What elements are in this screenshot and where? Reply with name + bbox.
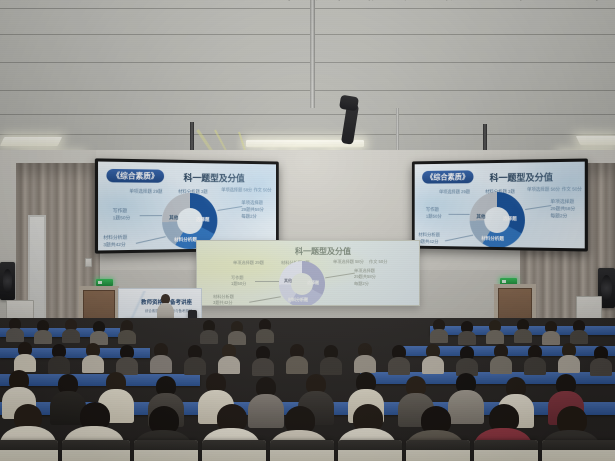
- slide-top-right-label-2-center: 作文 50分: [369, 259, 387, 265]
- student-body: [218, 356, 240, 374]
- student: [34, 320, 52, 342]
- callout-writing-center-line-2: 1题50分: [231, 281, 246, 287]
- callout-choice-right: 单项选择题 29题共58分 每题2分: [550, 199, 575, 220]
- callout-choice-right-line-1: 单项选择题: [550, 199, 575, 206]
- seat-headrest: [134, 440, 198, 450]
- callout-choice-center: 单项选择题 29题共58分 每题2分: [354, 268, 376, 287]
- seat-back: [338, 440, 402, 461]
- seat-headrest: [338, 440, 402, 450]
- segment-label-choice-right: 选择题: [503, 216, 517, 222]
- student-body: [6, 328, 24, 342]
- slide-title-center: 科一题型及分值: [263, 246, 383, 257]
- student: [430, 319, 448, 341]
- student-body: [558, 355, 580, 373]
- leader-line-choice: [217, 206, 242, 211]
- seat-back: [542, 440, 615, 461]
- left-tv-slide: 《综合素质》 科一题型及分值 单项选择题 29题 材料分析题 3题 单项选择题 …: [98, 162, 276, 251]
- student-body: [490, 356, 512, 374]
- slide-top-label-1-right: 单项选择题 29题: [439, 189, 470, 196]
- student: [14, 342, 36, 370]
- segment-label-other-center: 其他: [284, 278, 292, 284]
- student-body: [62, 329, 80, 343]
- student-body: [256, 329, 274, 343]
- callout-writing-center: 写作题 1题50分: [231, 275, 246, 288]
- slide-top-label-1: 单项选择题 29题: [129, 189, 162, 196]
- student-body: [228, 331, 246, 345]
- callout-choice-center-line-3: 每题2分: [354, 281, 376, 287]
- segment-label-other-right: 其他: [476, 214, 485, 220]
- slide-top-right-label-2-right: 作文 50分: [562, 186, 582, 193]
- center-projection-screen: 科一题型及分值 单项选择题 29题 材料分析题 3题 单项选择题 58分 作文 …: [196, 240, 420, 306]
- callout-choice: 单项选择题 29题共58分 每题2分: [241, 200, 264, 220]
- callout-choice-center-line-2: 29题共58分: [354, 274, 376, 280]
- leader-line-choice-right: [525, 205, 551, 210]
- student: [590, 346, 612, 374]
- seat-back: [62, 440, 130, 461]
- seat-headrest: [202, 440, 266, 450]
- lecture-hall-photo: 《综合素质》 科一题型及分值 单项选择题 29题 材料分析题 3题 单项选择题 …: [0, 0, 615, 461]
- segment-label-material-center: 材料分析题: [288, 297, 308, 303]
- student: [184, 345, 206, 373]
- callout-choice-line-3: 每题2分: [241, 214, 264, 221]
- student-body: [48, 356, 70, 374]
- leader-line-writing-right: [449, 214, 470, 215]
- seat-back: [202, 440, 266, 461]
- seat-back: [406, 440, 470, 461]
- student: [486, 320, 504, 342]
- student: [118, 320, 136, 342]
- student: [218, 344, 240, 372]
- student: [542, 321, 560, 343]
- seat-back: [134, 440, 198, 461]
- student: [200, 320, 218, 342]
- student: [514, 319, 532, 341]
- student: [256, 319, 274, 341]
- projector-mount-pole: [310, 0, 315, 108]
- student-body: [570, 330, 588, 344]
- slide-top-right-label-1-center: 单项选择题 58分: [333, 259, 364, 265]
- student-body: [286, 356, 308, 374]
- student-body: [118, 330, 136, 344]
- slide-top-right-label-2: 作文 50分: [254, 187, 272, 194]
- callout-material-center: 材料分析题 3题共42分: [213, 294, 234, 305]
- callout-material-right: 材料分析题 3题共42分: [418, 232, 440, 246]
- slide-top-label-1-center: 单项选择题 29题: [233, 260, 264, 266]
- student-body: [388, 357, 410, 375]
- student: [320, 345, 342, 373]
- wall-plate-left: [85, 258, 92, 267]
- student-body: [200, 330, 218, 344]
- student: [286, 344, 308, 372]
- segment-label-material-right: 材料分析题: [481, 236, 504, 242]
- student-body: [320, 357, 342, 375]
- exit-sign-left: [96, 279, 113, 286]
- seat-back: [474, 440, 538, 461]
- student-body: [422, 356, 444, 374]
- segment-label-choice-center: 选择题: [307, 280, 319, 286]
- right-tv-slide: 《综合素质》 科一题型及分值 单项选择题 29题 材料分析题 3题 单项选择题 …: [415, 162, 585, 249]
- callout-writing-line-1: 写作题: [113, 208, 131, 215]
- student: [252, 346, 274, 374]
- leader-line-writing-center: [255, 281, 279, 282]
- student: [90, 321, 108, 343]
- student-body: [524, 357, 546, 375]
- segment-label-writing: 其他: [169, 215, 178, 221]
- student: [116, 345, 138, 373]
- wall-speaker-left: [0, 262, 15, 300]
- callout-writing-right: 写作题 1题50分: [426, 207, 442, 221]
- donut-hole: [177, 208, 203, 234]
- seat-back: [0, 440, 58, 461]
- segment-label-material: 材料分析题: [174, 237, 197, 243]
- student-body: [150, 355, 172, 373]
- seat-headrest: [62, 440, 130, 450]
- audience-area: [0, 318, 615, 461]
- student: [490, 344, 512, 372]
- donut-chart-center: 选择题 材料分析题 其他: [279, 261, 325, 305]
- student: [558, 343, 580, 371]
- seat-back: [270, 440, 334, 461]
- slide-top-right-label-1: 单项选择题 58分: [221, 187, 252, 194]
- student: [82, 343, 104, 371]
- student: [524, 345, 546, 373]
- ceiling-camera-head: [339, 95, 359, 112]
- student: [228, 321, 246, 343]
- ceiling-light-far-left: [0, 137, 62, 146]
- callout-writing-right-line-2: 1题50分: [426, 214, 442, 221]
- student-body: [354, 355, 376, 373]
- callout-choice-line-1: 单项选择题: [241, 200, 264, 207]
- seat-headrest: [270, 440, 334, 450]
- seat-headrest: [406, 440, 470, 450]
- student: [570, 320, 588, 342]
- student: [6, 318, 24, 340]
- student: [458, 321, 476, 343]
- student-body: [458, 331, 476, 345]
- student-body: [252, 358, 274, 376]
- callout-material-right-line-2: 3题共42分: [418, 239, 440, 246]
- slide-badge-right: 《综合素质》: [422, 170, 473, 183]
- callout-choice-right-line-2: 29题共58分: [550, 206, 575, 213]
- slide-top-right-label-1-right: 单项选择题 58分: [527, 187, 560, 194]
- center-screen-slide: 科一题型及分值 单项选择题 29题 材料分析题 3题 单项选择题 58分 作文 …: [197, 241, 419, 305]
- student: [422, 344, 444, 372]
- slide-title: 科一题型及分值: [160, 171, 267, 185]
- seat-headrest: [542, 440, 615, 450]
- student-body: [430, 329, 448, 343]
- leader-line-writing: [140, 215, 162, 216]
- student-body: [514, 329, 532, 343]
- segment-label-choice: 选择题: [196, 217, 209, 223]
- callout-choice-line-2: 29题共58分: [241, 207, 264, 214]
- slide-badge: 《综合素质》: [106, 169, 164, 183]
- student-body: [34, 330, 52, 344]
- callout-choice-right-line-3: 每题2分: [550, 213, 575, 220]
- callout-writing-line-2: 1题50分: [113, 215, 131, 222]
- student-body: [486, 330, 504, 344]
- student-body: [82, 355, 104, 373]
- seat-headrest: [0, 440, 58, 450]
- student-body: [590, 358, 612, 376]
- slide-title-right: 科一题型及分值: [468, 170, 577, 184]
- student: [62, 319, 80, 341]
- student: [456, 346, 478, 374]
- callout-material: 材料分析题 3题共42分: [103, 235, 127, 249]
- ceiling: [0, 0, 615, 172]
- seat-headrest: [474, 440, 538, 450]
- student: [48, 344, 70, 372]
- callout-writing-right-line-1: 写作题: [426, 207, 442, 214]
- donut-hole-right: [484, 207, 510, 233]
- callout-writing: 写作题 1题50分: [113, 208, 131, 222]
- student: [150, 343, 172, 371]
- right-tv[interactable]: 《综合素质》 科一题型及分值 单项选择题 29题 材料分析题 3题 单项选择题 …: [412, 158, 588, 251]
- callout-material-line-2: 3题共42分: [103, 242, 127, 249]
- student: [388, 345, 410, 373]
- donut-chart-right: 选择题 材料分析题 其他: [470, 192, 525, 249]
- callout-material-center-line-2: 3题共42分: [213, 300, 234, 305]
- ceiling-light-far-right: [576, 136, 615, 145]
- student: [354, 343, 376, 371]
